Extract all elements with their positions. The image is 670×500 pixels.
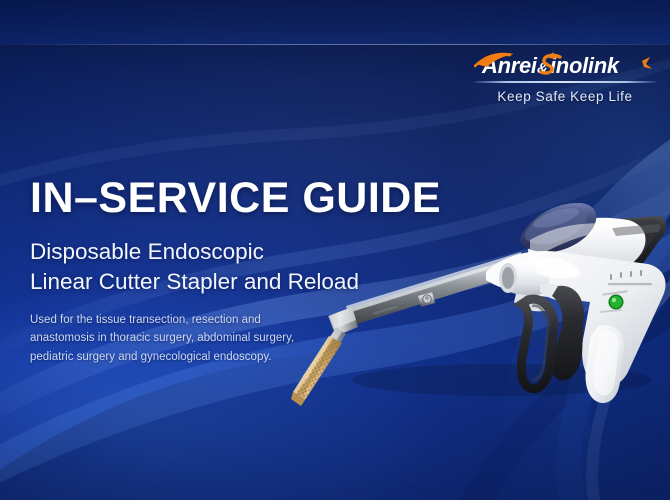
logo-underline-rule [474,81,656,83]
logo-wordmark: Anrei & inolink [474,52,656,78]
product-subtitle: Disposable Endoscopic Linear Cutter Stap… [30,237,390,296]
page-title: IN–SERVICE GUIDE [30,176,390,221]
logo-anrei-sinolinks-icon: Anrei & inolink [474,51,656,79]
copy-block: IN–SERVICE GUIDE Disposable Endoscopic L… [30,176,390,366]
product-subtitle-line-2: Linear Cutter Stapler and Reload [30,267,390,297]
product-description-line-1: Used for the tissue transection, resecti… [30,311,390,330]
product-description-line-2: anastomosis in thoracic surgery, abdomin… [30,329,390,348]
brand-logo-block: Anrei & inolink Keep Safe Keep Life [474,52,656,104]
product-description: Used for the tissue transection, resecti… [30,311,390,367]
poster-canvas: Anrei & inolink Keep Safe Keep Life [0,0,670,500]
product-description-line-3: pediatric surgery and gynecological endo… [30,348,390,367]
product-subtitle-line-1: Disposable Endoscopic [30,237,390,267]
brand-tagline: Keep Safe Keep Life [474,89,656,104]
